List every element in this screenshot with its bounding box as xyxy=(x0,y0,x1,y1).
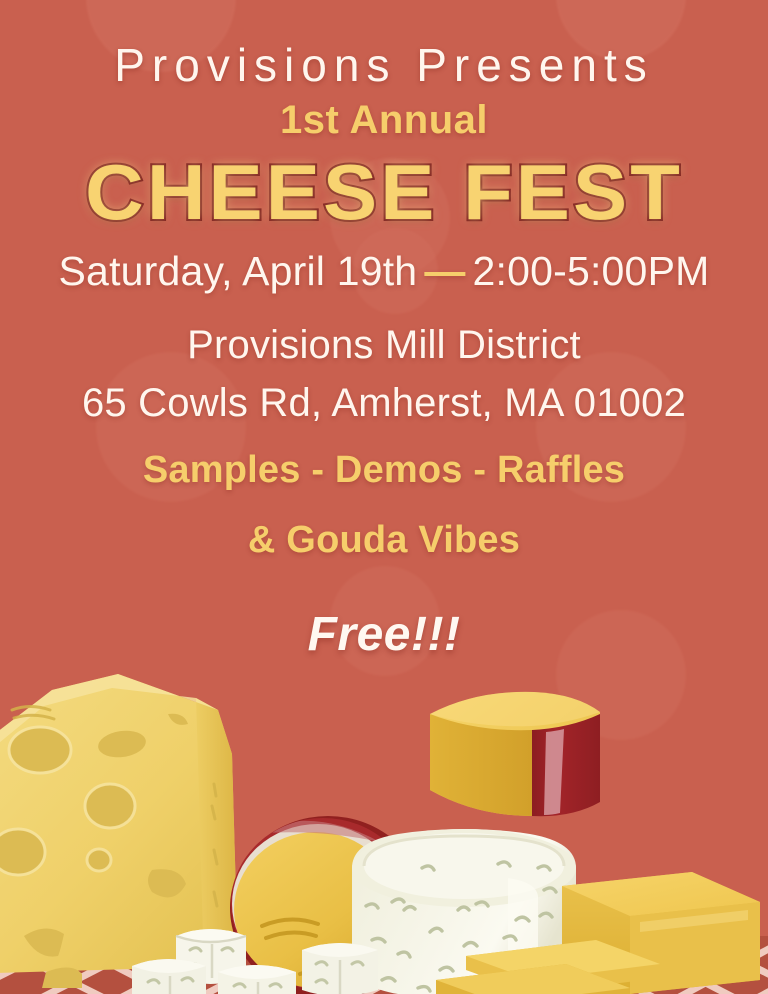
page-title: CHEESE FEST xyxy=(0,152,768,234)
venue-name: Provisions Mill District xyxy=(0,316,768,374)
perks-line-1: Samples - Demos - Raffles xyxy=(0,451,768,489)
edition-line: 1st Annual xyxy=(0,100,768,140)
poster-text-block: Provisions Presents 1st Annual CHEESE FE… xyxy=(0,0,768,659)
price-tag: Free!!! xyxy=(0,611,768,659)
venue-address: 65 Cowls Rd, Amherst, MA 01002 xyxy=(0,374,768,432)
venue-block: Provisions Mill District 65 Cowls Rd, Am… xyxy=(0,316,768,432)
cheese-illustration xyxy=(0,654,768,994)
event-date: Saturday, April 19th xyxy=(59,248,418,294)
cheese-fest-poster: Provisions Presents 1st Annual CHEESE FE… xyxy=(0,0,768,994)
presenter-line: Provisions Presents xyxy=(0,42,768,88)
date-time-line: Saturday, April 19th—2:00-5:00PM xyxy=(0,248,768,295)
event-time: 2:00-5:00PM xyxy=(473,248,710,294)
date-time-separator: — xyxy=(417,248,472,294)
gouda-wedge-slice xyxy=(430,692,600,816)
perks-line-2: & Gouda Vibes xyxy=(0,521,768,559)
